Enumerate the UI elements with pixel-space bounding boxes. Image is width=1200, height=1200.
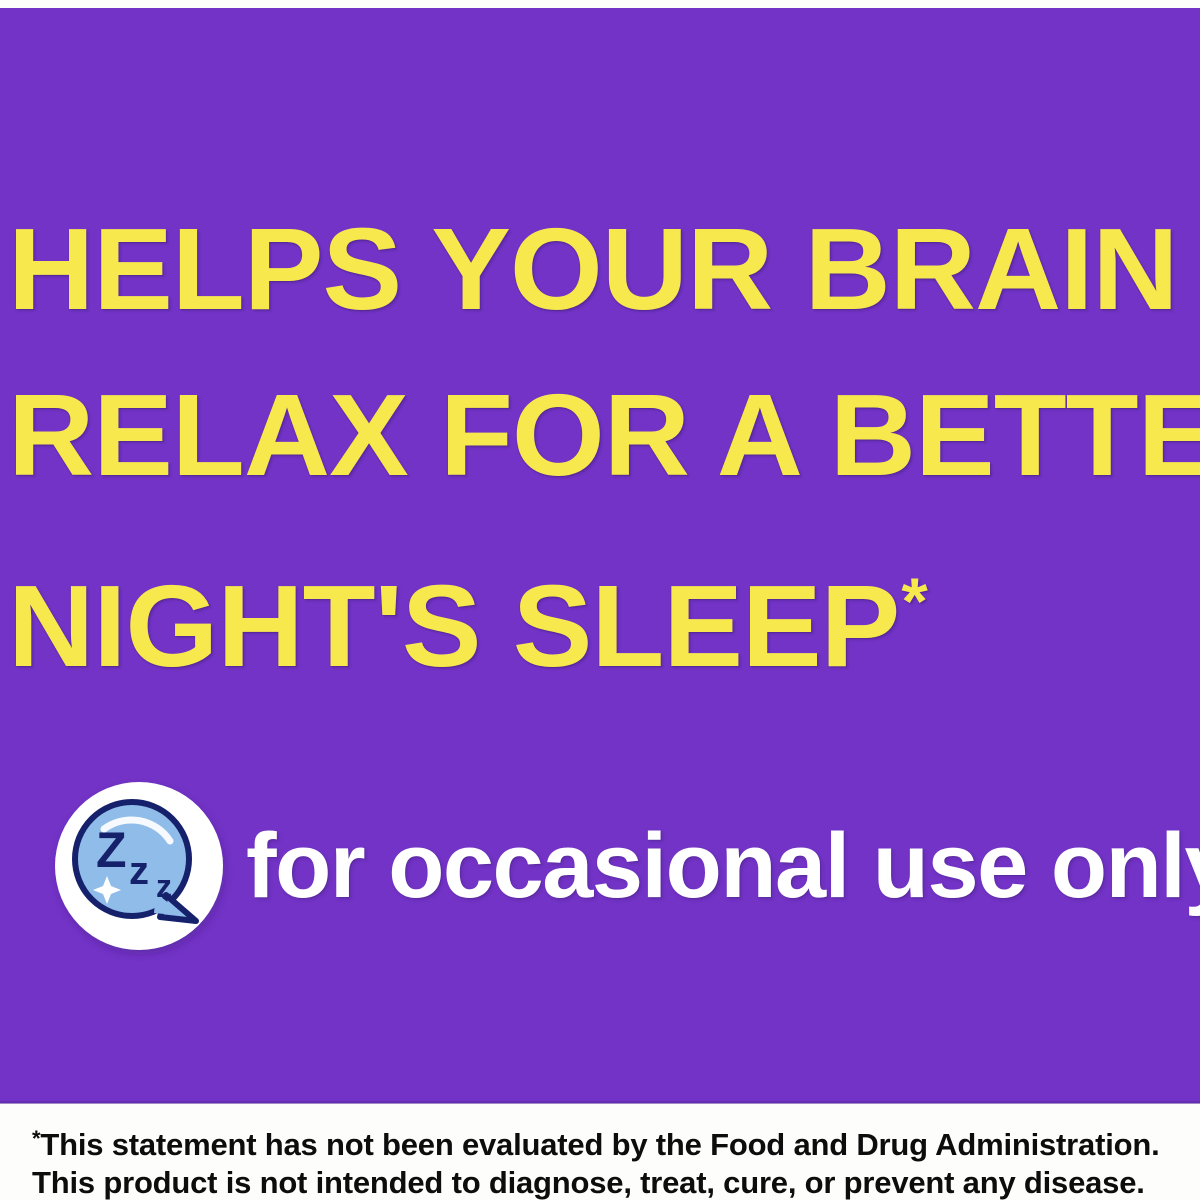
- svg-text:Z: Z: [96, 822, 127, 878]
- headline-line-3-text: NIGHT'S SLEEP: [8, 561, 899, 691]
- headline-line-3: NIGHT'S SLEEP*: [8, 518, 1200, 709]
- tagline-text: for occasional use only: [246, 818, 1200, 914]
- headline-asterisk: *: [901, 564, 927, 638]
- footer-line-1-text: This statement has not been evaluated by…: [40, 1127, 1159, 1162]
- badge-tagline-row: Z z z for occasional use only: [44, 768, 1174, 964]
- footer-inner: *This statement has not been evaluated b…: [32, 1120, 1172, 1200]
- svg-text:z: z: [156, 868, 172, 904]
- product-claim-graphic: HELPS YOUR BRAIN RELAX FOR A BETTER NIGH…: [0, 0, 1200, 1200]
- svg-text:z: z: [129, 849, 149, 893]
- top-white-strip: [0, 0, 1200, 8]
- footer-disclaimer: *This statement has not been evaluated b…: [0, 1104, 1200, 1200]
- footer-line-2: This product is not intended to diagnose…: [32, 1164, 1172, 1200]
- headline-line-2: RELAX FOR A BETTER: [8, 352, 1200, 518]
- sleep-zzz-speech-bubble-icon: Z z z: [44, 771, 234, 961]
- headline-line-1: HELPS YOUR BRAIN: [8, 186, 1200, 352]
- footer-line-1: *This statement has not been evaluated b…: [32, 1120, 1172, 1164]
- headline-block: HELPS YOUR BRAIN RELAX FOR A BETTER NIGH…: [8, 186, 1194, 709]
